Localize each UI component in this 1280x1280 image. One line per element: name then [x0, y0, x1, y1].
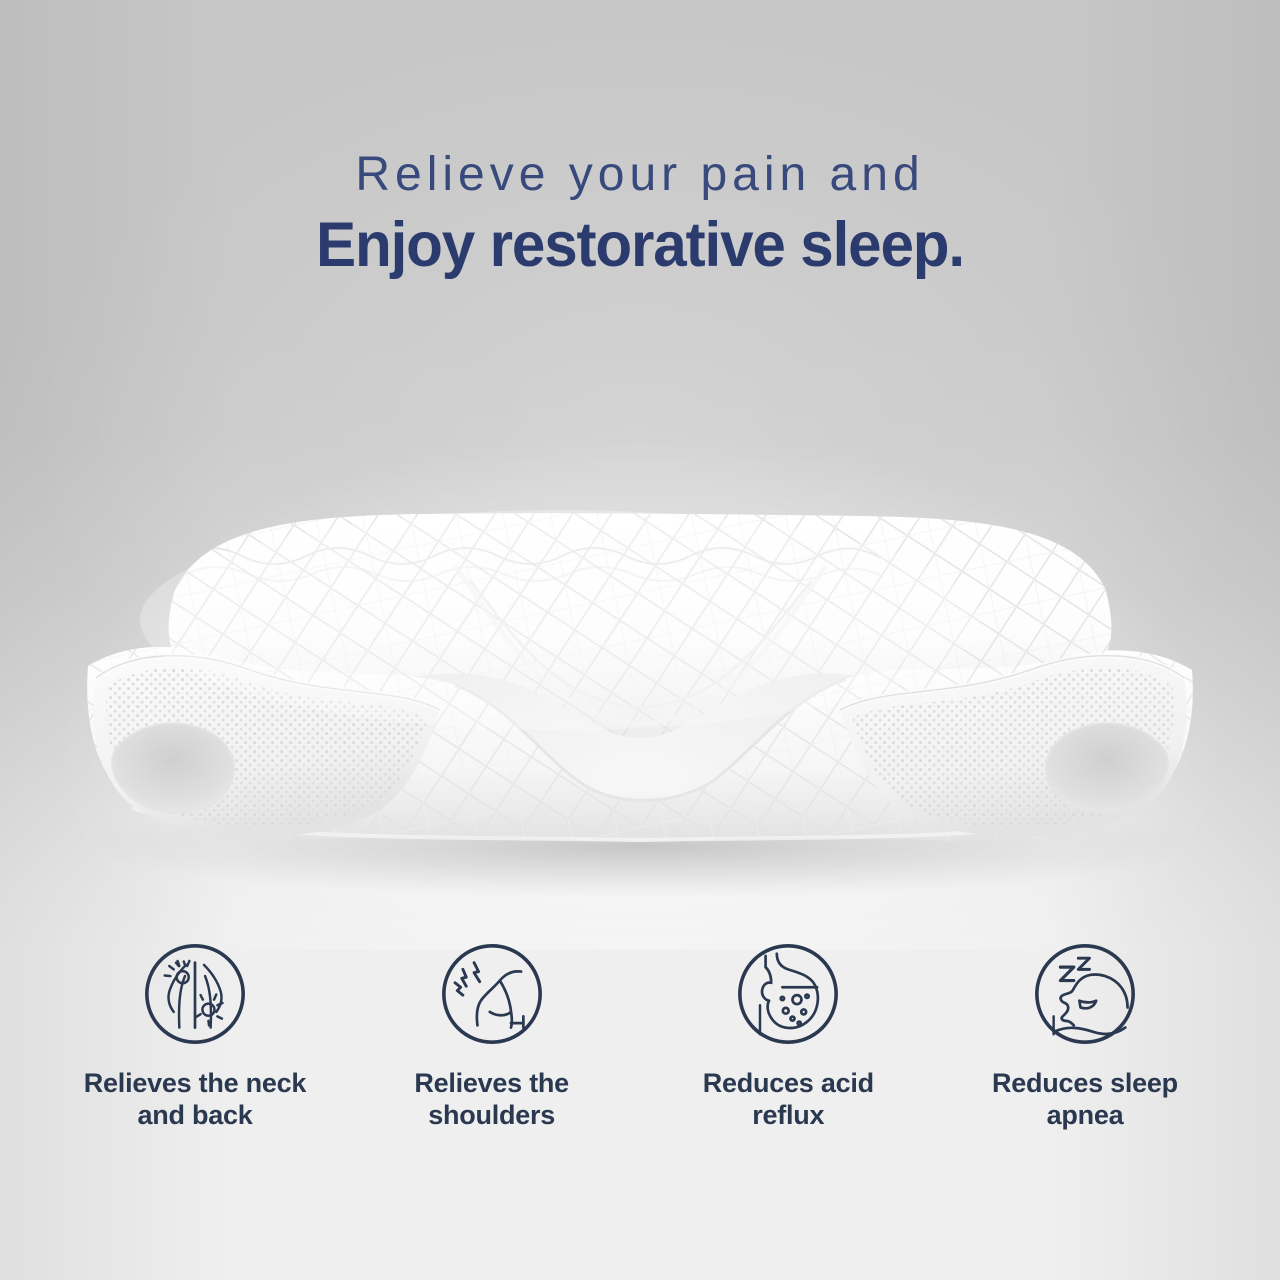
stomach-acid-icon [732, 938, 844, 1050]
benefit-item-acid-reflux: Reduces acid reflux [653, 938, 923, 1132]
headline-block: Relieve your pain and Enjoy restorative … [0, 148, 1280, 280]
back-pain-icon [139, 938, 251, 1050]
marketing-banner: Relieve your pain and Enjoy restorative … [0, 0, 1280, 1280]
benefit-label: Relieves the neck and back [84, 1067, 306, 1132]
benefit-item-neck-and-back: Relieves the neck and back [60, 938, 330, 1132]
benefit-item-sleep-apnea: Reduces sleep apnea [950, 938, 1220, 1132]
benefit-item-shoulders: Relieves the shoulders [357, 938, 627, 1132]
benefit-label: Reduces acid reflux [703, 1067, 874, 1132]
benefits-row: Relieves the neck and back [60, 938, 1220, 1132]
shoulder-pain-icon [436, 938, 548, 1050]
sleep-apnea-icon [1029, 938, 1141, 1050]
headline-line-2: Enjoy restorative sleep. [29, 210, 1251, 281]
headline-line-1: Relieve your pain and [0, 148, 1280, 202]
benefit-label: Reduces sleep apnea [992, 1067, 1178, 1132]
benefit-label: Relieves the shoulders [414, 1067, 569, 1132]
product-image [0, 470, 1280, 900]
